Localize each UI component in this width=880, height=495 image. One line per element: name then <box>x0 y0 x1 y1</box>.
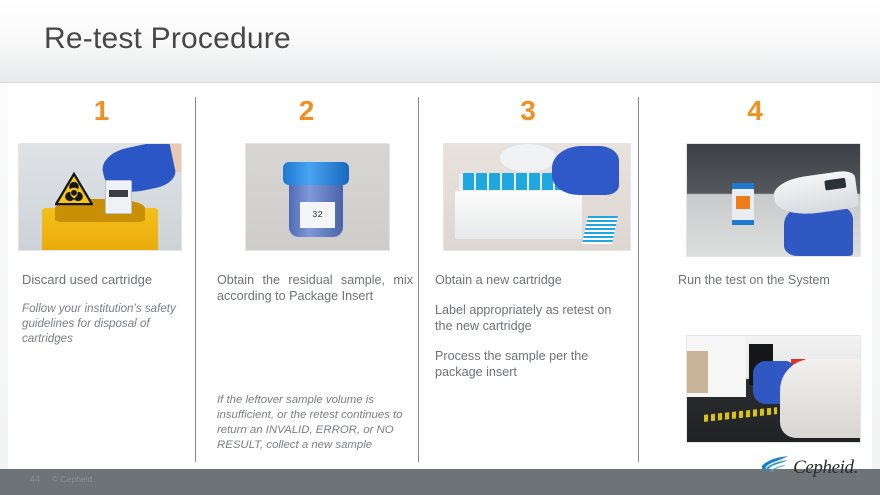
step-text-4: Run the test on the System <box>678 272 850 288</box>
footer-bar <box>0 469 880 495</box>
page-number: 44 <box>30 474 41 484</box>
step-number-1: 1 <box>8 97 195 125</box>
page-title: Re-test Procedure <box>44 22 291 56</box>
step-column-2: 2 32 Obtain the residual sample, mix acc… <box>195 84 418 469</box>
cartridge-box-photo <box>443 143 631 251</box>
specimen-cup-photo: 32 <box>245 143 390 251</box>
steps-container: 1 <box>8 84 872 469</box>
step-text-2: Obtain the residual sample, mix accordin… <box>217 272 413 304</box>
step-number-4: 4 <box>638 97 872 125</box>
copyright-text: © Cepheid <box>52 474 92 484</box>
cepheid-logo: Cepheid. <box>761 455 858 480</box>
step-note-2: If the leftover sample volume is insuffi… <box>217 393 417 453</box>
biohazard-icon <box>55 172 93 206</box>
step-column-1: 1 <box>8 84 195 469</box>
slide-header: Re-test Procedure <box>0 0 880 83</box>
step-paragraph-3-2: Label appropriately as retest on the new… <box>435 302 615 334</box>
slide-body: 1 <box>8 84 872 469</box>
step-number-2: 2 <box>195 97 418 125</box>
step-text-1: Discard used cartridge Follow your insti… <box>22 272 190 346</box>
biohazard-waste-bin-photo <box>18 143 182 251</box>
specimen-cup-label: 32 <box>300 202 334 227</box>
step-lead-2: Obtain the residual sample, mix accordin… <box>217 272 413 304</box>
step-lead-1: Discard used cartridge <box>22 272 190 288</box>
genexpert-module-loading-photo <box>686 335 861 443</box>
step-lead-4: Run the test on the System <box>678 272 850 288</box>
step-column-4: 4 Run the test on the System <box>638 84 872 469</box>
step-paragraph-3-3: Process the sample per the package inser… <box>435 348 615 380</box>
cepheid-swoosh-icon <box>761 455 791 480</box>
barcode-scanner-cartridge-photo <box>686 143 861 257</box>
slide: Re-test Procedure 1 <box>0 0 880 495</box>
step-number-3: 3 <box>418 97 638 125</box>
cepheid-wordmark: Cepheid. <box>793 457 858 479</box>
step-text-3: Obtain a new cartridge Label appropriate… <box>435 272 615 394</box>
step-paragraph-3-1: Obtain a new cartridge <box>435 272 615 288</box>
step-note-1: Follow your institution’s safety guideli… <box>22 301 190 346</box>
step-column-3: 3 Obtain a new cartridge Label appropria… <box>418 84 638 469</box>
